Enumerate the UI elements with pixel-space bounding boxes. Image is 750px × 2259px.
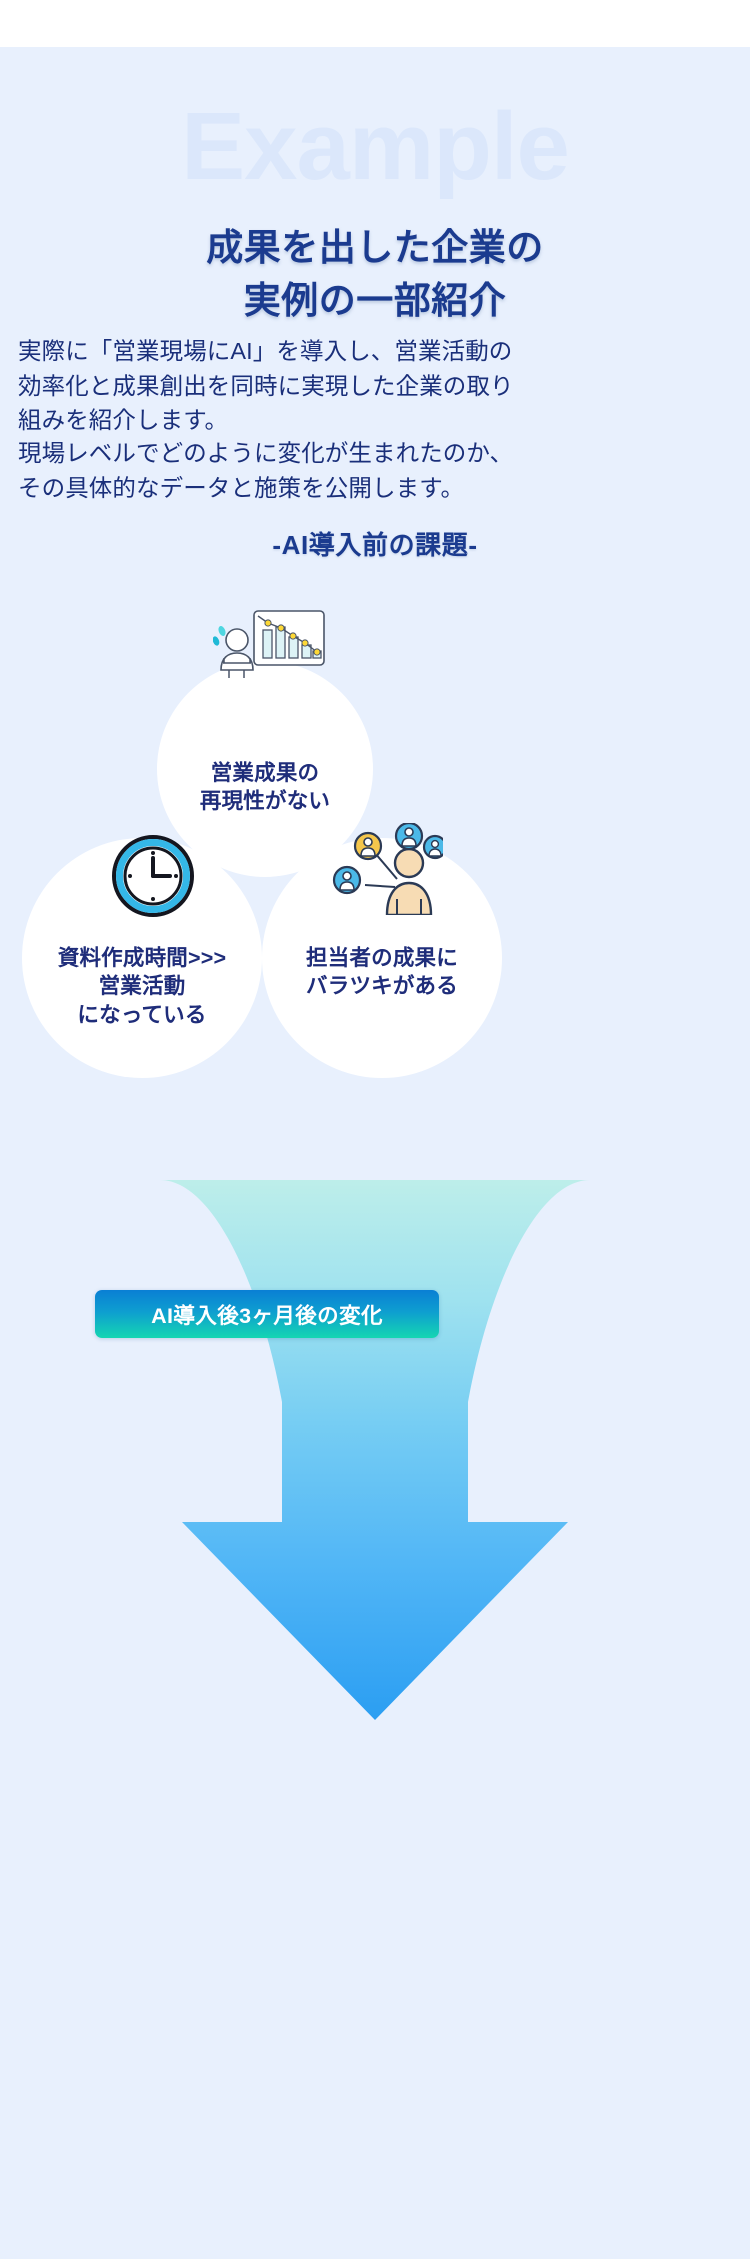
problem-caption-line-2: 再現性がない (200, 787, 330, 815)
intro-paragraph-1-line-1: 実際に「営業現場にAI」を導入し、営業活動の (18, 334, 732, 369)
problem-caption-line-1: 担当者の成果に (306, 944, 458, 972)
problem-caption-line-2: バラツキがある (306, 972, 458, 1000)
problem-circle-reproducibility-caption: 営業成果の 再現性がない (200, 759, 330, 816)
problem-circle-performance-variance-caption: 担当者の成果に バラツキがある (306, 944, 458, 1001)
problem-caption-line-2: 営業活動 (58, 972, 226, 1000)
problem-circle-document-time: 資料作成時間>>> 営業活動 になっている (22, 838, 262, 1078)
change-banner: AI導入後3ヶ月後の変化 (95, 1290, 439, 1338)
page-root: Example 成果を出した企業の 実例の一部紹介 実際に「営業現場にAI」を導… (0, 0, 750, 2259)
section-subheading: -AI導入前の課題- (0, 525, 750, 562)
watermark-text: Example (0, 97, 750, 198)
intro-paragraph-2: 現場レベルでどのように変化が生まれたのか、 その具体的なデータと施策を公開します… (18, 436, 732, 505)
down-arrow-funnel-icon (138, 1172, 612, 1732)
intro-paragraph-1: 実際に「営業現場にAI」を導入し、営業活動の 効率化と成果創出を同時に実現した企… (18, 334, 732, 438)
intro-paragraph-2-line-1: 現場レベルでどのように変化が生まれたのか、 (18, 436, 732, 471)
problem-circle-document-time-caption: 資料作成時間>>> 営業活動 になっている (58, 944, 226, 1029)
problem-circle-performance-variance: 担当者の成果に バラツキがある (262, 838, 502, 1078)
change-banner-label: AI導入後3ヶ月後の変化 (151, 1299, 383, 1330)
page-title: 成果を出した企業の 実例の一部紹介 (0, 222, 750, 327)
problem-caption-line-1: 資料作成時間>>> (58, 944, 226, 972)
intro-paragraph-1-line-2: 効率化と成果創出を同時に実現した企業の取り (18, 369, 732, 404)
intro-paragraph-1-line-3: 組みを紹介します。 (18, 403, 732, 438)
intro-paragraph-2-line-2: その具体的なデータと施策を公開します。 (18, 471, 732, 506)
problem-caption-line-3: になっている (58, 1001, 226, 1029)
page-title-line-2: 実例の一部紹介 (0, 275, 750, 328)
problem-caption-line-1: 営業成果の (200, 759, 330, 787)
page-title-line-1: 成果を出した企業の (0, 222, 750, 275)
